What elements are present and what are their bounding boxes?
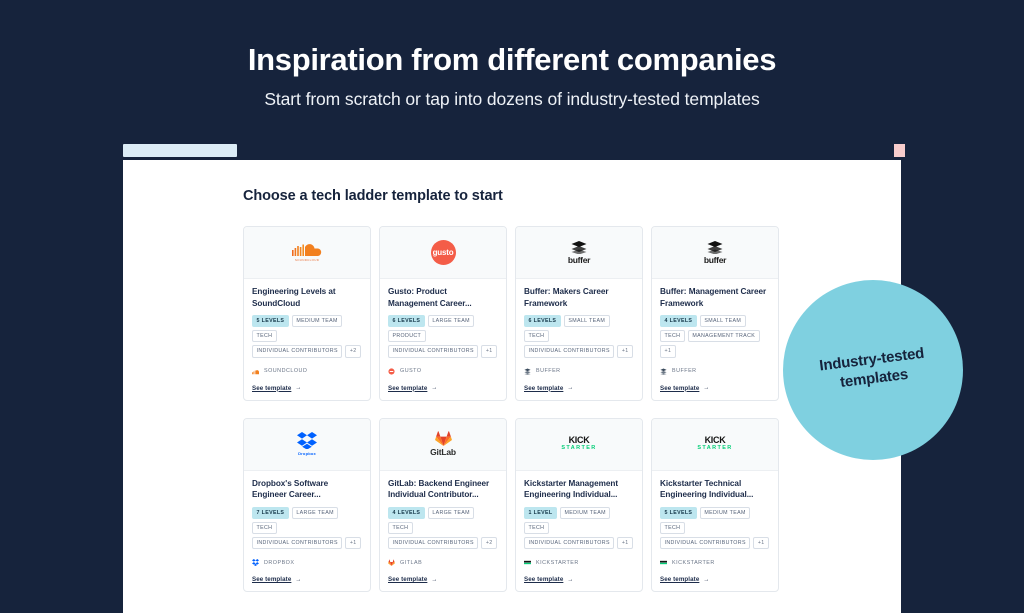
tag-levels: 7 LEVELS bbox=[252, 507, 289, 519]
buffer-wordmark: buffer bbox=[704, 255, 726, 265]
kickstarter-wordmark-top: KICK bbox=[569, 436, 590, 445]
see-template-link[interactable]: See template bbox=[524, 385, 563, 392]
tag-levels: 6 LEVELS bbox=[524, 315, 561, 327]
soundcloud-logo: SOUNDCLOUD bbox=[290, 242, 324, 264]
template-card[interactable]: bufferBuffer: Management Career Framewor… bbox=[651, 226, 779, 401]
card-company: DROPBOX bbox=[252, 559, 362, 566]
card-company: BUFFER bbox=[524, 368, 634, 375]
dropbox-logo: Dropbox bbox=[297, 432, 317, 456]
kickstarter-icon bbox=[524, 559, 531, 566]
tag: MEDIUM TEAM bbox=[700, 507, 750, 519]
card-body: Kickstarter Technical Engineering Indivi… bbox=[652, 471, 778, 592]
tag-levels: 5 LEVELS bbox=[252, 315, 289, 327]
kickstarter-wordmark-top: KICK bbox=[705, 436, 726, 445]
dropbox-wordmark: Dropbox bbox=[298, 451, 316, 456]
card-tag-list: 7 LEVELSLARGE TEAMTECHINDIVIDUAL CONTRIB… bbox=[252, 507, 362, 549]
template-card[interactable]: GitLabGitLab: Backend Engineer Individua… bbox=[379, 418, 507, 593]
tag: INDIVIDUAL CONTRIBUTORS bbox=[388, 537, 478, 549]
see-template-link[interactable]: See template bbox=[252, 385, 291, 392]
browser-chrome bbox=[123, 140, 901, 161]
card-title: Kickstarter Management Engineering Indiv… bbox=[524, 478, 634, 501]
card-footer: See template→ bbox=[388, 566, 498, 583]
card-company-label: DROPBOX bbox=[264, 560, 294, 566]
buffer-logo: buffer bbox=[704, 241, 726, 265]
card-company: KICKSTARTER bbox=[524, 559, 634, 566]
card-footer: See template→ bbox=[388, 375, 498, 392]
template-card[interactable]: KICKSTARTERKickstarter Technical Enginee… bbox=[651, 418, 779, 593]
gusto-logo: gusto bbox=[431, 240, 456, 265]
card-footer: See template→ bbox=[252, 375, 362, 392]
card-footer: See template→ bbox=[660, 566, 770, 583]
card-title: Kickstarter Technical Engineering Indivi… bbox=[660, 478, 770, 501]
tag: TECH bbox=[660, 330, 685, 342]
card-tag-list: 5 LEVELSMEDIUM TEAMTECHINDIVIDUAL CONTRI… bbox=[660, 507, 770, 549]
tag: MANAGEMENT TRACK bbox=[688, 330, 760, 342]
card-company: GITLAB bbox=[388, 559, 498, 566]
card-footer: See template→ bbox=[660, 375, 770, 392]
see-template-link[interactable]: See template bbox=[660, 385, 699, 392]
card-title: Dropbox's Software Engineer Career... bbox=[252, 478, 362, 501]
card-footer: See template→ bbox=[524, 566, 634, 583]
card-logo: buffer bbox=[652, 227, 778, 279]
arrow-right-icon: → bbox=[431, 385, 437, 391]
kickstarter-icon bbox=[660, 559, 667, 566]
template-card[interactable]: SOUNDCLOUDEngineering Levels at SoundClo… bbox=[243, 226, 371, 401]
gitlab-icon bbox=[435, 431, 452, 446]
card-company-label: KICKSTARTER bbox=[672, 560, 715, 566]
see-template-link[interactable]: See template bbox=[660, 576, 699, 583]
arrow-right-icon: → bbox=[567, 385, 573, 391]
card-footer: See template→ bbox=[524, 375, 634, 392]
dropbox-icon bbox=[252, 559, 259, 566]
card-logo: KICKSTARTER bbox=[516, 419, 642, 471]
tag: TECH bbox=[524, 522, 549, 534]
card-company-label: GITLAB bbox=[400, 560, 422, 566]
tag: INDIVIDUAL CONTRIBUTORS bbox=[660, 537, 750, 549]
tag: MEDIUM TEAM bbox=[292, 315, 342, 327]
tag-more-count: +1 bbox=[345, 537, 361, 549]
tag-more-count: +1 bbox=[660, 345, 676, 357]
buffer-icon bbox=[571, 241, 587, 254]
tag-more-count: +1 bbox=[481, 345, 497, 357]
card-footer: See template→ bbox=[252, 566, 362, 583]
tag: TECH bbox=[388, 522, 413, 534]
card-tag-list: 6 LEVELSLARGE TEAMPRODUCTINDIVIDUAL CONT… bbox=[388, 315, 498, 357]
industry-tested-badge: Industry-tested templates bbox=[783, 280, 963, 460]
arrow-right-icon: → bbox=[567, 577, 573, 583]
card-company: BUFFER bbox=[660, 368, 770, 375]
gitlab-logo: GitLab bbox=[430, 431, 456, 457]
tag-more-count: +1 bbox=[617, 537, 633, 549]
card-company: GUSTO bbox=[388, 368, 498, 375]
card-company-label: KICKSTARTER bbox=[536, 560, 579, 566]
template-card-grid: SOUNDCLOUDEngineering Levels at SoundClo… bbox=[243, 226, 863, 592]
card-tag-list: 4 LEVELSLARGE TEAMTECHINDIVIDUAL CONTRIB… bbox=[388, 507, 498, 549]
buffer-icon bbox=[660, 368, 667, 375]
card-title: Buffer: Management Career Framework bbox=[660, 286, 770, 309]
card-logo: Dropbox bbox=[244, 419, 370, 471]
tag-more-count: +1 bbox=[753, 537, 769, 549]
tag: LARGE TEAM bbox=[428, 315, 475, 327]
buffer-icon bbox=[524, 368, 531, 375]
gitlab-wordmark: GitLab bbox=[430, 447, 456, 457]
see-template-link[interactable]: See template bbox=[252, 576, 291, 583]
card-body: Engineering Levels at SoundCloud5 LEVELS… bbox=[244, 279, 370, 400]
card-body: GitLab: Backend Engineer Individual Cont… bbox=[380, 471, 506, 592]
card-company-label: GUSTO bbox=[400, 368, 422, 374]
arrow-right-icon: → bbox=[703, 577, 709, 583]
card-company-label: SOUNDCLOUD bbox=[264, 368, 307, 374]
browser-tab[interactable] bbox=[123, 144, 237, 157]
template-card[interactable]: bufferBuffer: Makers Career Framework6 L… bbox=[515, 226, 643, 401]
arrow-right-icon: → bbox=[295, 385, 301, 391]
card-title: Gusto: Product Management Career... bbox=[388, 286, 498, 309]
card-tag-list: 5 LEVELSMEDIUM TEAMTECHINDIVIDUAL CONTRI… bbox=[252, 315, 362, 357]
tag-levels: 4 LEVELS bbox=[660, 315, 697, 327]
page-root: Inspiration from different companies Sta… bbox=[0, 0, 1024, 613]
tag: TECH bbox=[252, 522, 277, 534]
tag: INDIVIDUAL CONTRIBUTORS bbox=[252, 537, 342, 549]
tag: SMALL TEAM bbox=[564, 315, 610, 327]
kickstarter-wordmark-bottom: STARTER bbox=[697, 446, 732, 452]
tag: INDIVIDUAL CONTRIBUTORS bbox=[524, 345, 614, 357]
card-logo: buffer bbox=[516, 227, 642, 279]
card-body: Gusto: Product Management Career...6 LEV… bbox=[380, 279, 506, 400]
page-title: Inspiration from different companies bbox=[0, 41, 1024, 78]
see-template-link[interactable]: See template bbox=[524, 576, 563, 583]
page-subtitle: Start from scratch or tap into dozens of… bbox=[0, 89, 1024, 110]
tag: SMALL TEAM bbox=[700, 315, 746, 327]
kickstarter-wordmark-bottom: STARTER bbox=[561, 446, 596, 452]
card-body: Buffer: Management Career Framework4 LEV… bbox=[652, 279, 778, 400]
card-body: Buffer: Makers Career Framework6 LEVELSS… bbox=[516, 279, 642, 400]
card-body: Kickstarter Management Engineering Indiv… bbox=[516, 471, 642, 592]
tag-more-count: +1 bbox=[617, 345, 633, 357]
browser-window-indicator[interactable] bbox=[894, 144, 905, 157]
tag-levels: 4 LEVELS bbox=[388, 507, 425, 519]
card-company: KICKSTARTER bbox=[660, 559, 770, 566]
soundcloud-icon bbox=[252, 368, 259, 375]
card-company-label: BUFFER bbox=[672, 368, 697, 374]
tag-more-count: +2 bbox=[481, 537, 497, 549]
tag-levels: 5 LEVELS bbox=[660, 507, 697, 519]
card-logo: SOUNDCLOUD bbox=[244, 227, 370, 279]
tag: LARGE TEAM bbox=[428, 507, 475, 519]
card-tag-list: 6 LEVELSSMALL TEAMTECHINDIVIDUAL CONTRIB… bbox=[524, 315, 634, 357]
dropbox-icon bbox=[297, 432, 317, 449]
tag: INDIVIDUAL CONTRIBUTORS bbox=[524, 537, 614, 549]
tag: LARGE TEAM bbox=[292, 507, 339, 519]
card-title: GitLab: Backend Engineer Individual Cont… bbox=[388, 478, 498, 501]
template-card[interactable]: DropboxDropbox's Software Engineer Caree… bbox=[243, 418, 371, 593]
arrow-right-icon: → bbox=[703, 385, 709, 391]
buffer-logo: buffer bbox=[568, 241, 590, 265]
card-body: Dropbox's Software Engineer Career...7 L… bbox=[244, 471, 370, 592]
kickstarter-logo: KICKSTARTER bbox=[561, 436, 596, 452]
see-template-link[interactable]: See template bbox=[388, 385, 427, 392]
card-logo: gusto bbox=[380, 227, 506, 279]
card-title: Buffer: Makers Career Framework bbox=[524, 286, 634, 309]
card-tag-list: 4 LEVELSSMALL TEAMTECHMANAGEMENT TRACK+1 bbox=[660, 315, 770, 357]
tag: MEDIUM TEAM bbox=[560, 507, 610, 519]
tag: INDIVIDUAL CONTRIBUTORS bbox=[252, 345, 342, 357]
card-company-label: BUFFER bbox=[536, 368, 561, 374]
hero-section: Inspiration from different companies Sta… bbox=[0, 0, 1024, 110]
badge-text: Industry-tested templates bbox=[801, 343, 945, 397]
gusto-icon bbox=[388, 368, 395, 375]
tag: TECH bbox=[660, 522, 685, 534]
see-template-link[interactable]: See template bbox=[388, 576, 427, 583]
card-logo: KICKSTARTER bbox=[652, 419, 778, 471]
soundcloud-wordmark: SOUNDCLOUD bbox=[295, 258, 319, 262]
tag-levels: 1 LEVEL bbox=[524, 507, 557, 519]
kickstarter-logo: KICKSTARTER bbox=[697, 436, 732, 452]
tag: PRODUCT bbox=[388, 330, 426, 342]
template-card[interactable]: KICKSTARTERKickstarter Management Engine… bbox=[515, 418, 643, 593]
card-title: Engineering Levels at SoundCloud bbox=[252, 286, 362, 309]
card-logo: GitLab bbox=[380, 419, 506, 471]
tag: TECH bbox=[524, 330, 549, 342]
panel-heading: Choose a tech ladder template to start bbox=[243, 188, 503, 204]
buffer-wordmark: buffer bbox=[568, 255, 590, 265]
tag: INDIVIDUAL CONTRIBUTORS bbox=[388, 345, 478, 357]
arrow-right-icon: → bbox=[431, 577, 437, 583]
soundcloud-icon bbox=[292, 243, 322, 257]
arrow-right-icon: → bbox=[295, 577, 301, 583]
tag-more-count: +2 bbox=[345, 345, 361, 357]
template-card[interactable]: gustoGusto: Product Management Career...… bbox=[379, 226, 507, 401]
card-tag-list: 1 LEVELMEDIUM TEAMTECHINDIVIDUAL CONTRIB… bbox=[524, 507, 634, 549]
card-company: SOUNDCLOUD bbox=[252, 368, 362, 375]
gitlab-icon bbox=[388, 559, 395, 566]
tag: TECH bbox=[252, 330, 277, 342]
tag-levels: 6 LEVELS bbox=[388, 315, 425, 327]
buffer-icon bbox=[707, 241, 723, 254]
